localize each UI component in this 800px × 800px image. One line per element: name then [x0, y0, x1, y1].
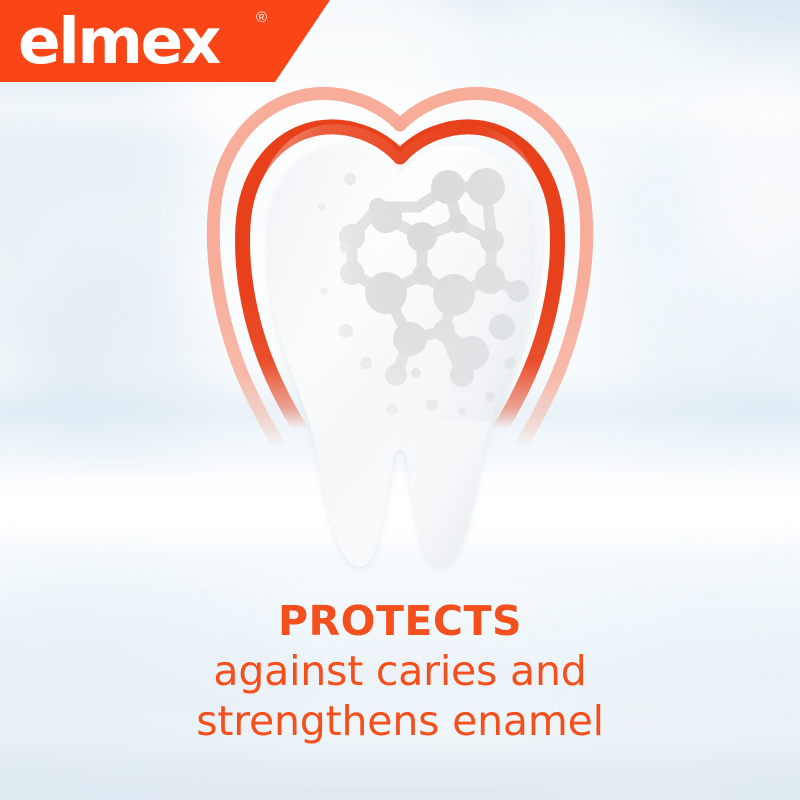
tooth-illustration — [200, 95, 600, 575]
brand-logo-wordmark: elmex — [18, 6, 219, 78]
claim-subline-1: against caries and — [0, 646, 800, 696]
product-claim-banner: elmex ® PROTECTS against caries and stre… — [0, 0, 800, 800]
claim-subline-2: strengthens enamel — [0, 696, 800, 746]
claim-headline: PROTECTS — [0, 596, 800, 646]
registered-trademark-icon: ® — [256, 10, 267, 25]
claim-text-block: PROTECTS against caries and strengthens … — [0, 596, 800, 746]
